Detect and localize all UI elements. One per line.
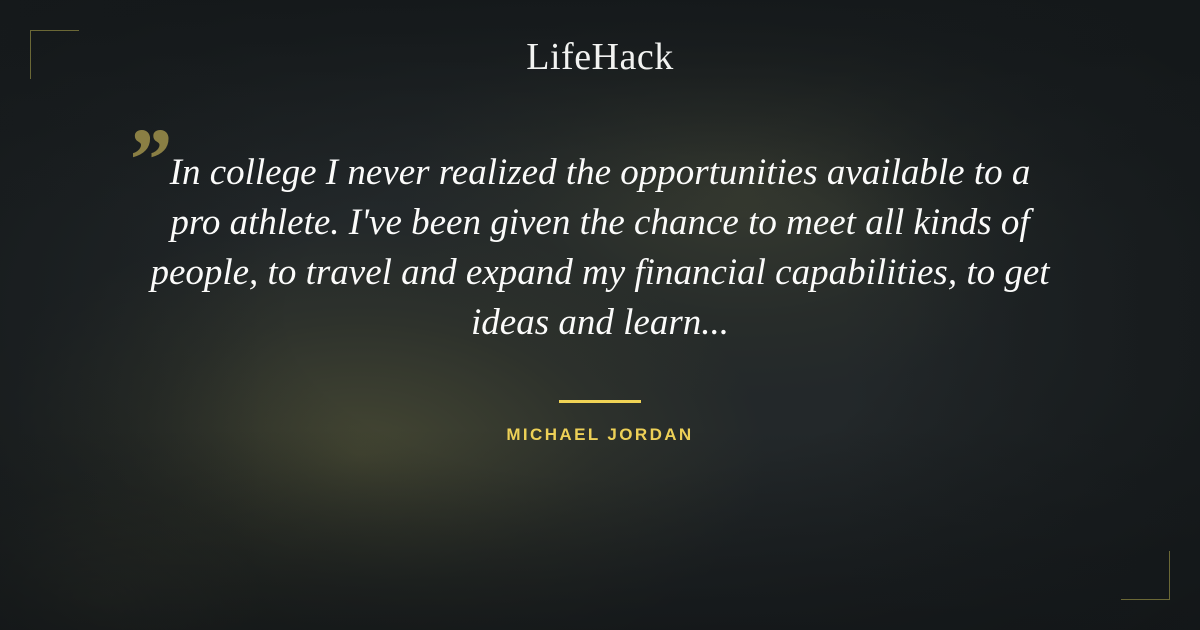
quote-line: In college I never realized the opportun… <box>85 148 1115 198</box>
quote-line: ideas and learn... <box>85 298 1115 348</box>
quote-line: people, to travel and expand my financia… <box>85 248 1115 298</box>
quote-text: In college I never realized the opportun… <box>85 148 1115 348</box>
quote-card: ” LifeHack In college I never realized t… <box>0 0 1200 630</box>
quote-author: MICHAEL JORDAN <box>506 425 693 445</box>
card-content: LifeHack In college I never realized the… <box>0 0 1200 630</box>
attribution-divider <box>559 400 641 403</box>
brand-logo: LifeHack <box>526 38 673 76</box>
quote-line: pro athlete. I've been given the chance … <box>85 198 1115 248</box>
